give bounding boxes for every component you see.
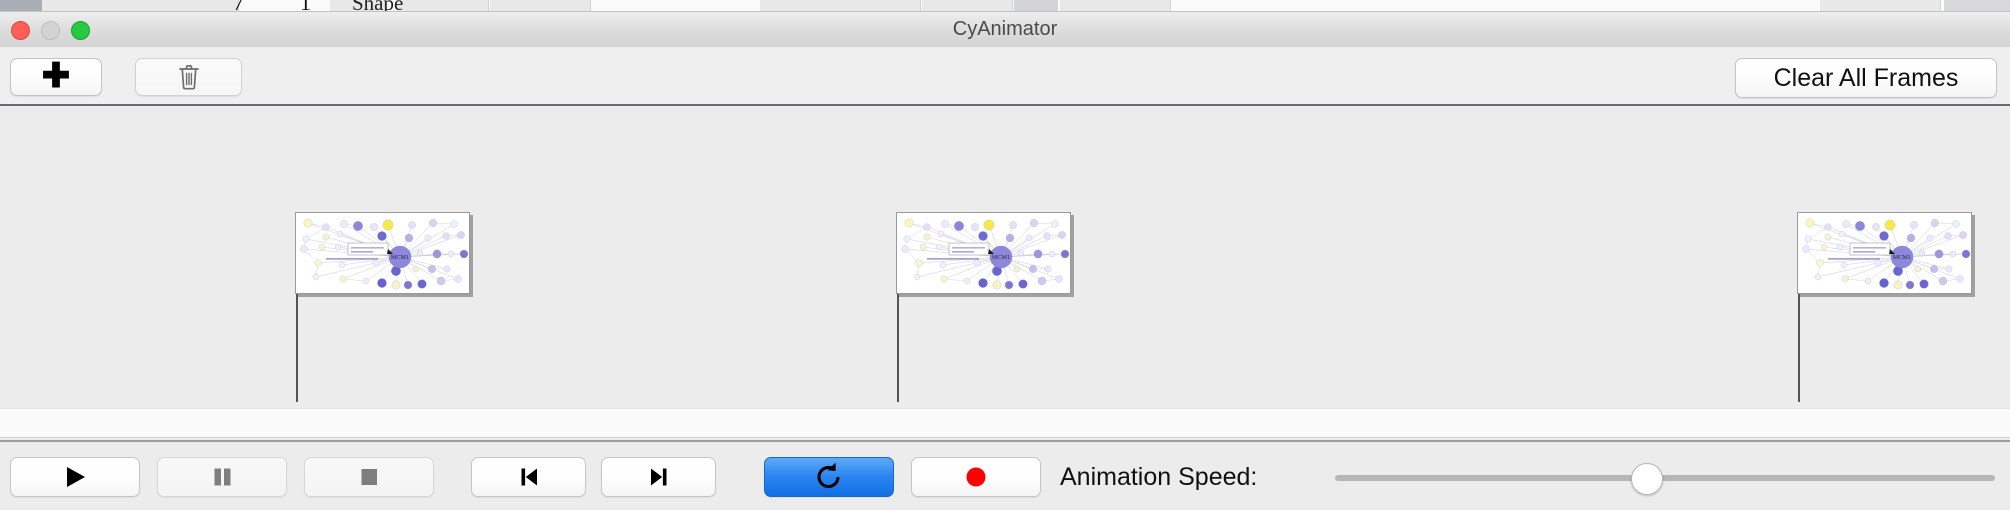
frame-marker — [897, 294, 899, 402]
toolbar — [0, 47, 2010, 105]
cyanimator-window: 7 1 Shape CyAnimator ✚ Clear All Frames — [0, 0, 2010, 510]
record-button[interactable] — [911, 457, 1041, 497]
add-frame-button[interactable]: ✚ — [10, 58, 102, 96]
title-bar: CyAnimator — [0, 12, 2010, 48]
loop-button[interactable] — [764, 457, 894, 497]
frame-thumbnail[interactable]: MCM1 — [896, 212, 1071, 294]
stop-button[interactable] — [304, 457, 434, 497]
delete-frame-button[interactable] — [135, 58, 242, 96]
pause-icon — [207, 462, 237, 492]
clear-all-frames-button[interactable]: Clear All Frames — [1735, 58, 1997, 98]
svg-text:MCM1: MCM1 — [391, 254, 409, 261]
window-title: CyAnimator — [0, 12, 2010, 47]
loop-icon — [813, 461, 845, 493]
play-icon — [60, 462, 90, 492]
animation-speed-slider-thumb[interactable] — [1631, 463, 1663, 495]
svg-text:MCM1: MCM1 — [992, 254, 1010, 261]
timeline-scrollbar-track[interactable] — [0, 408, 2010, 438]
skip-previous-button[interactable] — [471, 457, 586, 497]
clear-all-frames-label: Clear All Frames — [1774, 64, 1959, 93]
skip-next-button[interactable] — [601, 457, 716, 497]
trash-icon — [177, 63, 201, 91]
frame-marker — [296, 294, 298, 402]
skip-next-icon — [644, 462, 674, 492]
animation-speed-label: Animation Speed: — [1060, 463, 1257, 492]
pause-button[interactable] — [157, 457, 287, 497]
frame-thumbnail[interactable]: MCM1 — [295, 212, 470, 294]
animation-speed-slider-track[interactable] — [1335, 475, 1995, 481]
play-button[interactable] — [10, 457, 140, 497]
stop-icon — [354, 462, 384, 492]
skip-previous-icon — [514, 462, 544, 492]
svg-text:MCM1: MCM1 — [1893, 254, 1911, 261]
timeline-panel[interactable]: MCM1MCM1MCM1 12131415161718 Seconds — [0, 106, 2010, 402]
frame-thumbnail[interactable]: MCM1 — [1797, 212, 1972, 294]
record-icon — [961, 462, 991, 492]
frame-marker — [1798, 294, 1800, 402]
